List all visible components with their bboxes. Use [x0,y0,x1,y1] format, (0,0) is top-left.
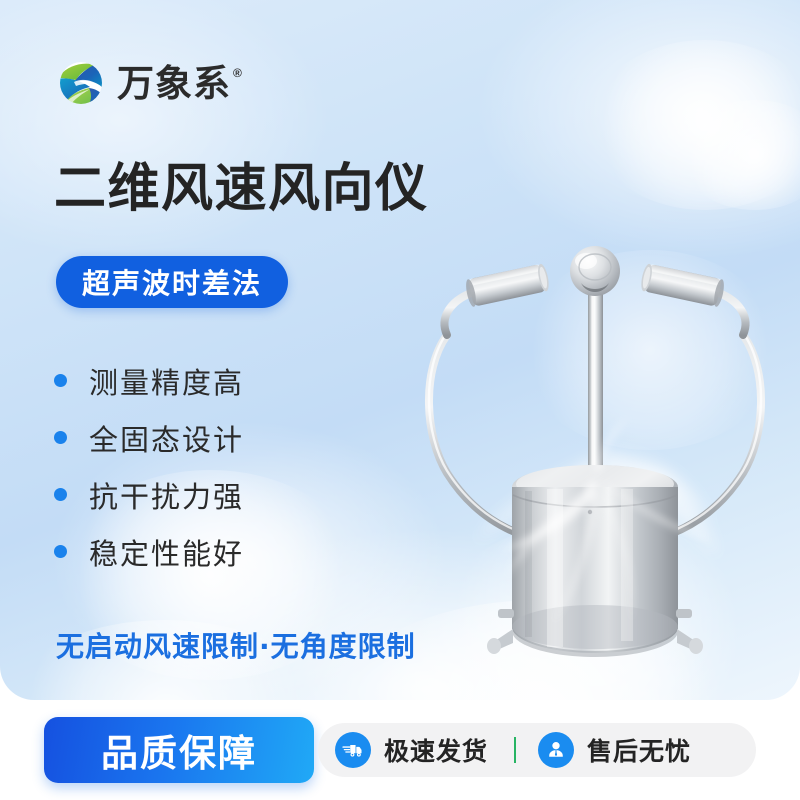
bullet-dot-icon [54,374,67,387]
bottom-assurance-bar: 品质保障 [0,700,800,800]
feature-label: 稳定性能好 [89,531,244,573]
delivery-truck-icon [335,732,371,768]
brand-logo: 万象系 ® [56,58,242,108]
list-item: 全固态设计 [54,409,244,466]
cloud-blob [590,40,800,210]
page-title: 二维风速风向仪 [54,160,429,218]
service-fast-delivery[interactable]: 极速发货 [318,723,516,777]
brand-name: 万象系 [117,65,231,102]
service-after-sales[interactable]: 售后无忧 [516,723,691,777]
list-item: 稳定性能好 [54,523,244,580]
quality-guarantee-badge[interactable]: 品质保障 [44,717,314,783]
feature-label: 测量精度高 [89,360,244,402]
feature-label: 全固态设计 [89,417,244,459]
feature-list: 测量精度高 全固态设计 抗干扰力强 稳定性能好 [54,352,244,580]
bullet-dot-icon [54,545,67,558]
list-item: 测量精度高 [54,352,244,409]
cloud-blob [680,100,800,210]
support-agent-icon [538,732,574,768]
registered-mark-icon: ® [233,66,242,80]
service-label: 售后无忧 [587,732,691,768]
product-poster: 万象系 ® 二维风速风向仪 超声波时差法 测量精度高 全固态设计 抗干扰力强 [0,0,800,800]
tagline: 无启动风速限制·无角度限制 [56,625,416,665]
swirl-globe-icon [56,58,106,108]
list-item: 抗干扰力强 [54,466,244,523]
service-badges: 极速发货 售后无忧 [318,723,756,777]
ultrasonic-anemometer-photo [395,205,795,675]
bullet-dot-icon [54,488,67,501]
quality-guarantee-label: 品质保障 [101,723,257,777]
technology-badge: 超声波时差法 [56,256,288,308]
feature-label: 抗干扰力强 [89,474,244,516]
service-label: 极速发货 [384,732,488,768]
hero-card: 万象系 ® 二维风速风向仪 超声波时差法 测量精度高 全固态设计 抗干扰力强 [0,0,800,700]
bullet-dot-icon [54,431,67,444]
